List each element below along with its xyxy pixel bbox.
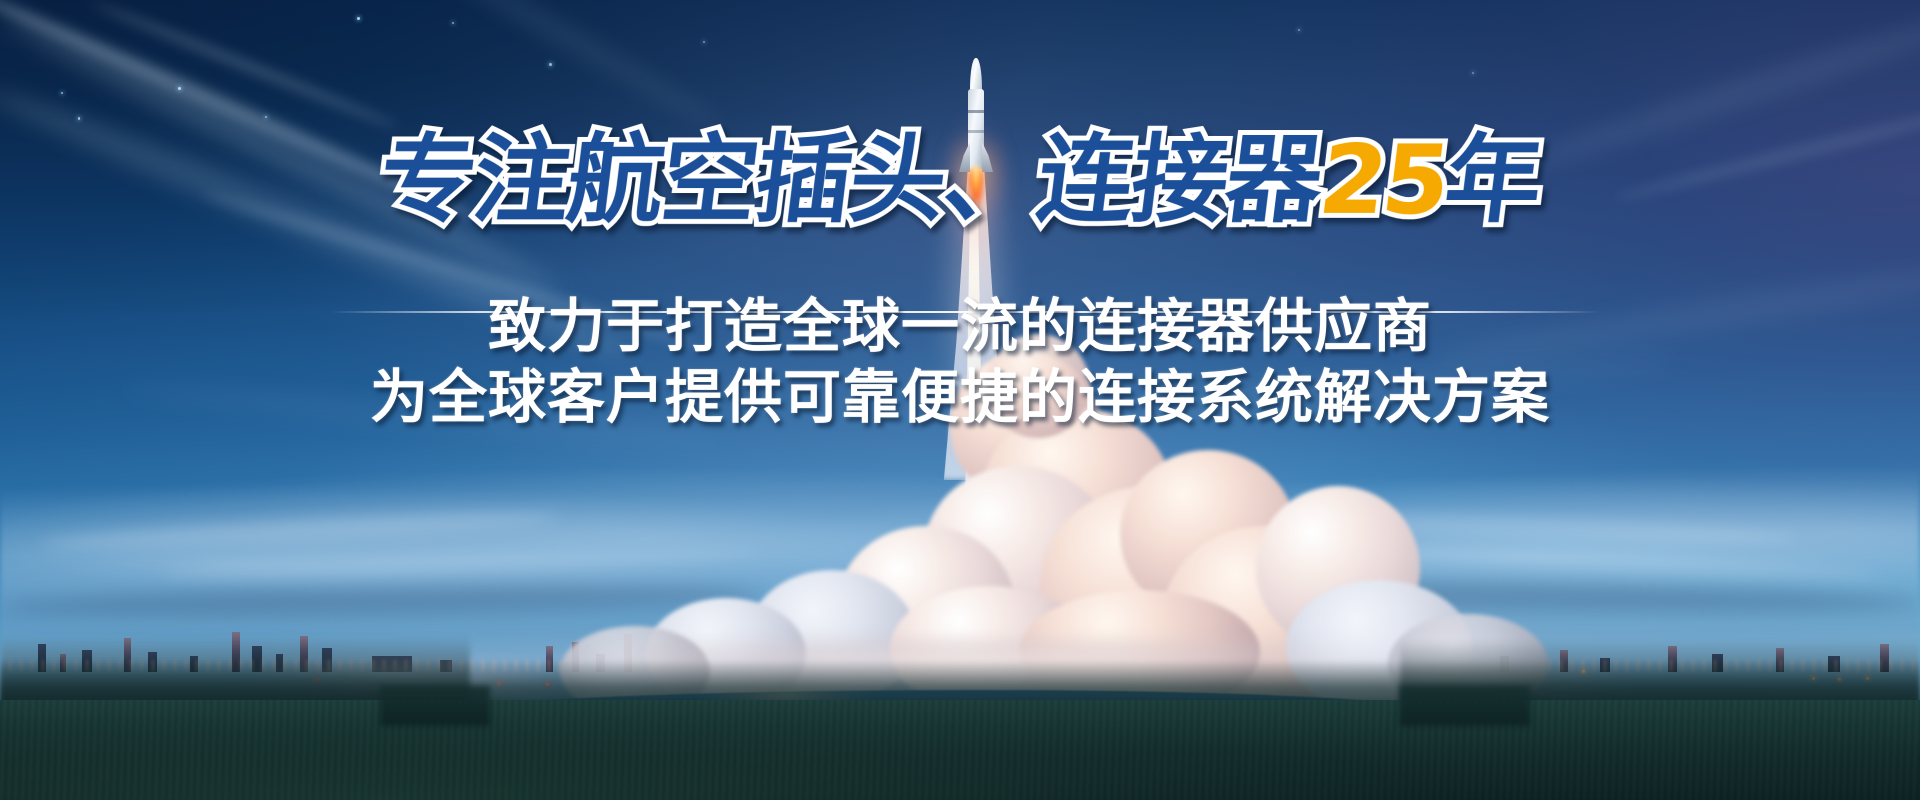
forest-texture [0,700,1920,800]
headline-segment-main: 专注航空插头、连接器 [374,132,1326,228]
rocket-nose-cone [970,58,982,92]
star-dot [549,63,552,66]
star-dot [357,17,360,20]
star-dot [452,22,454,24]
headline-segment-unit: 年 [1440,132,1546,228]
subtitle-line-2: 为全球客户提供可靠便捷的连接系统解决方案 [0,368,1920,426]
star-dot [61,92,63,94]
rocket-band [968,110,984,113]
star-dot [1472,72,1474,74]
lake-shore-right [1400,686,1530,726]
star-dot [1298,29,1300,31]
star-dot [703,41,705,43]
headline-segment-years: 25 [1314,132,1451,228]
subtitle-line-1: 致力于打造全球一流的连接器供应商 [0,297,1920,355]
lake-shore-left [380,686,490,726]
banner-headline: 专注航空插头、连接器25年 [0,132,1920,228]
hero-banner: 专注航空插头、连接器25年 致力于打造全球一流的连接器供应商 为全球客户提供可靠… [0,0,1920,800]
